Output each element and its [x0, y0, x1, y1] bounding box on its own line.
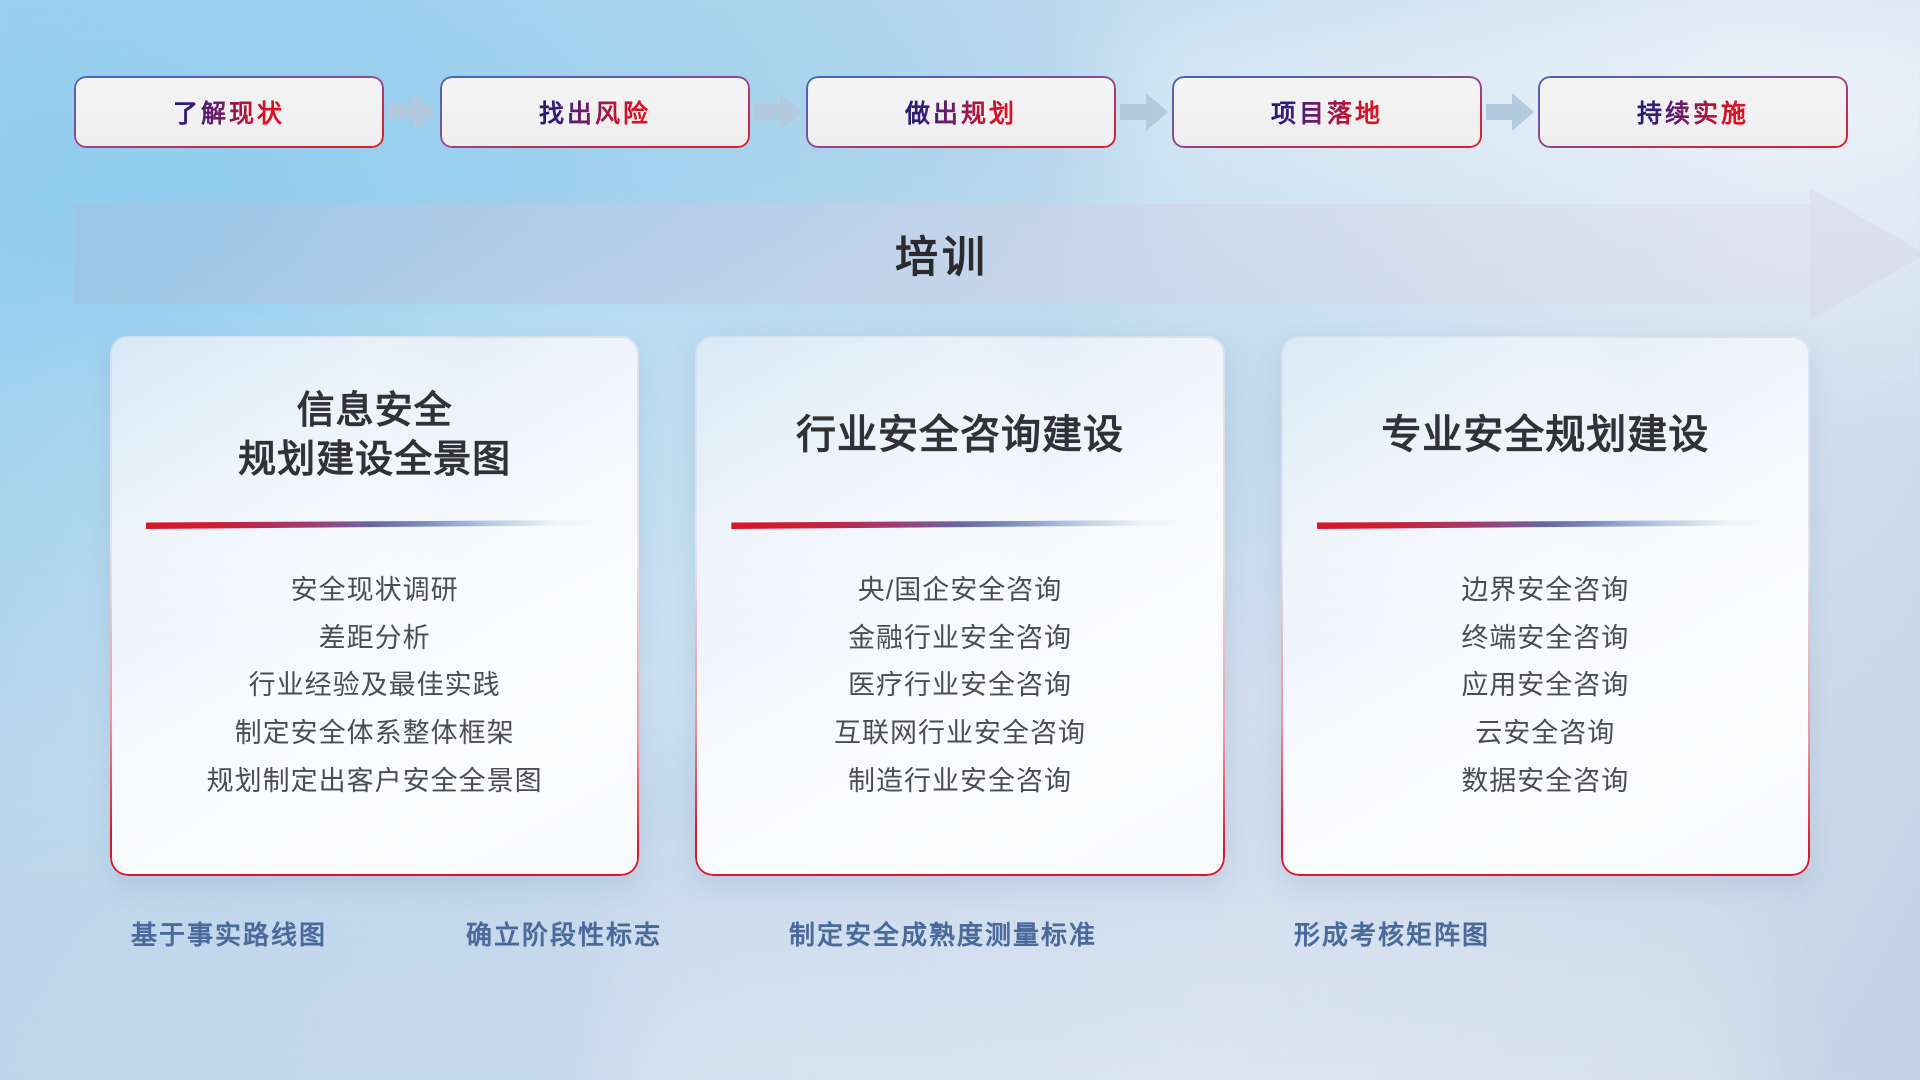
step-label-0: 了解现状	[173, 94, 285, 130]
arrow-right-icon	[1116, 93, 1172, 131]
list-item: 云安全咨询	[1475, 712, 1615, 755]
step-flow: 了解现状 找出风险 做出规划 项目落地 持续实施	[74, 76, 1846, 148]
banner-arrow-tip-icon	[1810, 188, 1920, 320]
caption-1: 确立阶段性标志	[466, 915, 662, 952]
step-box-3[interactable]: 项目落地	[1172, 76, 1482, 148]
card-0[interactable]: 信息安全 规划建设全景图 安全现状调研 差距分析 行业经验及最佳实践 制定安全体…	[110, 336, 639, 876]
step-label-3: 项目落地	[1271, 94, 1383, 130]
list-item: 金融行业安全咨询	[848, 617, 1072, 660]
card-1[interactable]: 行业安全咨询建设 央/国企安全咨询 金融行业安全咨询 医疗行业安全咨询 互联网行…	[695, 336, 1224, 876]
step-label-2: 做出规划	[905, 94, 1017, 130]
arrow-right-icon	[1482, 93, 1538, 131]
banner-title: 培训	[74, 204, 1810, 304]
card-2[interactable]: 专业安全规划建设 边界安全咨询 终端安全咨询 应用安全咨询 云安全咨询 数据安全…	[1281, 336, 1810, 876]
card-list-0: 安全现状调研 差距分析 行业经验及最佳实践 制定安全体系整体框架 规划制定出客户…	[140, 569, 609, 802]
card-title-0: 信息安全 规划建设全景图	[140, 376, 609, 496]
caption-0: 基于事实路线图	[131, 915, 327, 952]
list-item: 边界安全咨询	[1461, 569, 1629, 612]
list-item: 数据安全咨询	[1461, 760, 1629, 803]
arrow-right-icon	[750, 93, 806, 131]
step-label-1: 找出风险	[539, 94, 651, 130]
step-box-1[interactable]: 找出风险	[440, 76, 750, 148]
list-item: 应用安全咨询	[1461, 664, 1629, 707]
list-item: 央/国企安全咨询	[858, 569, 1063, 612]
step-box-4[interactable]: 持续实施	[1538, 76, 1848, 148]
card-group: 信息安全 规划建设全景图 安全现状调研 差距分析 行业经验及最佳实践 制定安全体…	[110, 336, 1810, 876]
card-divider-1	[731, 520, 1188, 529]
list-item: 互联网行业安全咨询	[834, 712, 1086, 755]
arrow-right-icon	[384, 93, 440, 131]
card-divider-0	[146, 520, 603, 529]
card-title-2: 专业安全规划建设	[1311, 376, 1780, 496]
card-title-line: 信息安全	[140, 387, 609, 436]
training-banner: 培训	[74, 204, 1864, 304]
list-item: 医疗行业安全咨询	[848, 664, 1072, 707]
caption-2: 制定安全成熟度测量标准	[789, 915, 1097, 952]
list-item: 制造行业安全咨询	[848, 760, 1072, 803]
step-box-2[interactable]: 做出规划	[806, 76, 1116, 148]
list-item: 差距分析	[319, 617, 431, 660]
card-title-1: 行业安全咨询建设	[725, 376, 1194, 496]
list-item: 安全现状调研	[291, 569, 459, 612]
card-title-line: 行业安全咨询建设	[725, 410, 1194, 461]
card-divider-2	[1317, 520, 1774, 529]
card-list-2: 边界安全咨询 终端安全咨询 应用安全咨询 云安全咨询 数据安全咨询	[1311, 569, 1780, 802]
list-item: 规划制定出客户安全全景图	[207, 760, 543, 803]
list-item: 制定安全体系整体框架	[235, 712, 515, 755]
list-item: 行业经验及最佳实践	[249, 664, 501, 707]
card-title-line: 专业安全规划建设	[1311, 410, 1780, 461]
caption-row: 基于事实路线图 确立阶段性标志 制定安全成熟度测量标准 形成考核矩阵图	[0, 915, 1920, 965]
step-label-4: 持续实施	[1637, 94, 1749, 130]
card-title-line: 规划建设全景图	[140, 436, 609, 485]
step-box-0[interactable]: 了解现状	[74, 76, 384, 148]
infographic-page: { "steps": { "items": [ { "label": "了解现状…	[0, 0, 1920, 1080]
list-item: 终端安全咨询	[1461, 617, 1629, 660]
card-list-1: 央/国企安全咨询 金融行业安全咨询 医疗行业安全咨询 互联网行业安全咨询 制造行…	[725, 569, 1194, 802]
caption-3: 形成考核矩阵图	[1294, 915, 1490, 952]
